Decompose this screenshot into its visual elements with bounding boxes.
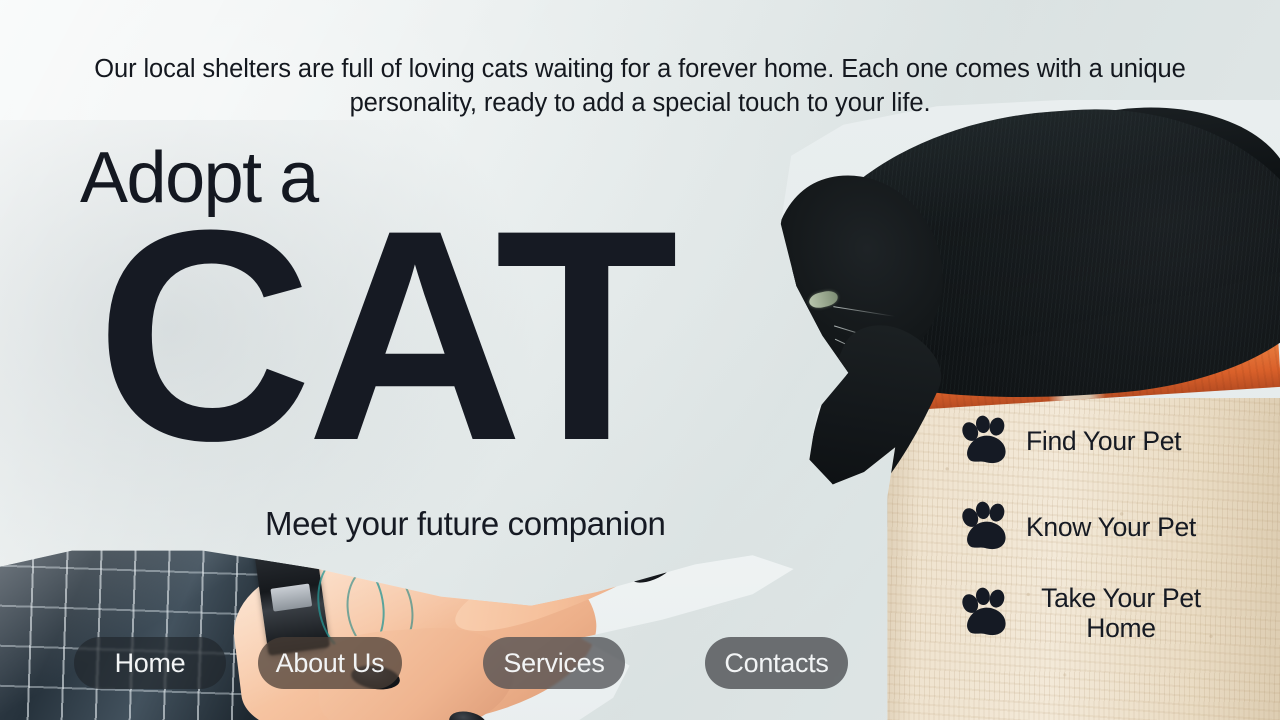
feature-item-know-your-pet[interactable]: Know Your Pet bbox=[958, 498, 1258, 558]
intro-paragraph: Our local shelters are full of loving ca… bbox=[90, 52, 1190, 120]
nav-item-contacts[interactable]: Contacts bbox=[705, 637, 848, 689]
headline-kicker: Adopt a bbox=[80, 142, 318, 214]
paw-icon bbox=[958, 413, 1016, 471]
headline-word: CAT bbox=[96, 206, 672, 464]
nav-item-home[interactable]: Home bbox=[74, 637, 226, 689]
tagline: Meet your future companion bbox=[265, 505, 666, 543]
cat-toe bbox=[799, 506, 821, 530]
paw-icon bbox=[958, 585, 1016, 643]
cat-ear bbox=[750, 219, 787, 256]
nav-item-services[interactable]: Services bbox=[483, 637, 625, 689]
cat-toe bbox=[813, 517, 835, 541]
feature-label: Find Your Pet bbox=[1026, 427, 1181, 457]
feature-item-take-your-pet-home[interactable]: Take Your Pet Home bbox=[958, 584, 1258, 644]
fingernail bbox=[678, 492, 716, 514]
bottom-nav: Home About Us Services Contacts bbox=[0, 637, 1280, 691]
cat-toe bbox=[831, 520, 853, 544]
paw-icon bbox=[958, 499, 1016, 557]
feature-label: Know Your Pet bbox=[1026, 513, 1196, 543]
feature-item-find-your-pet[interactable]: Find Your Pet bbox=[958, 412, 1258, 472]
nav-item-about-us[interactable]: About Us bbox=[258, 637, 402, 689]
cat-paw bbox=[793, 475, 872, 550]
feature-label: Take Your Pet Home bbox=[1026, 584, 1216, 643]
hero-poster: CAT Our local shelters are full of lovin… bbox=[0, 0, 1280, 720]
feature-list: Find Your Pet Know Your Pet bbox=[958, 412, 1258, 644]
